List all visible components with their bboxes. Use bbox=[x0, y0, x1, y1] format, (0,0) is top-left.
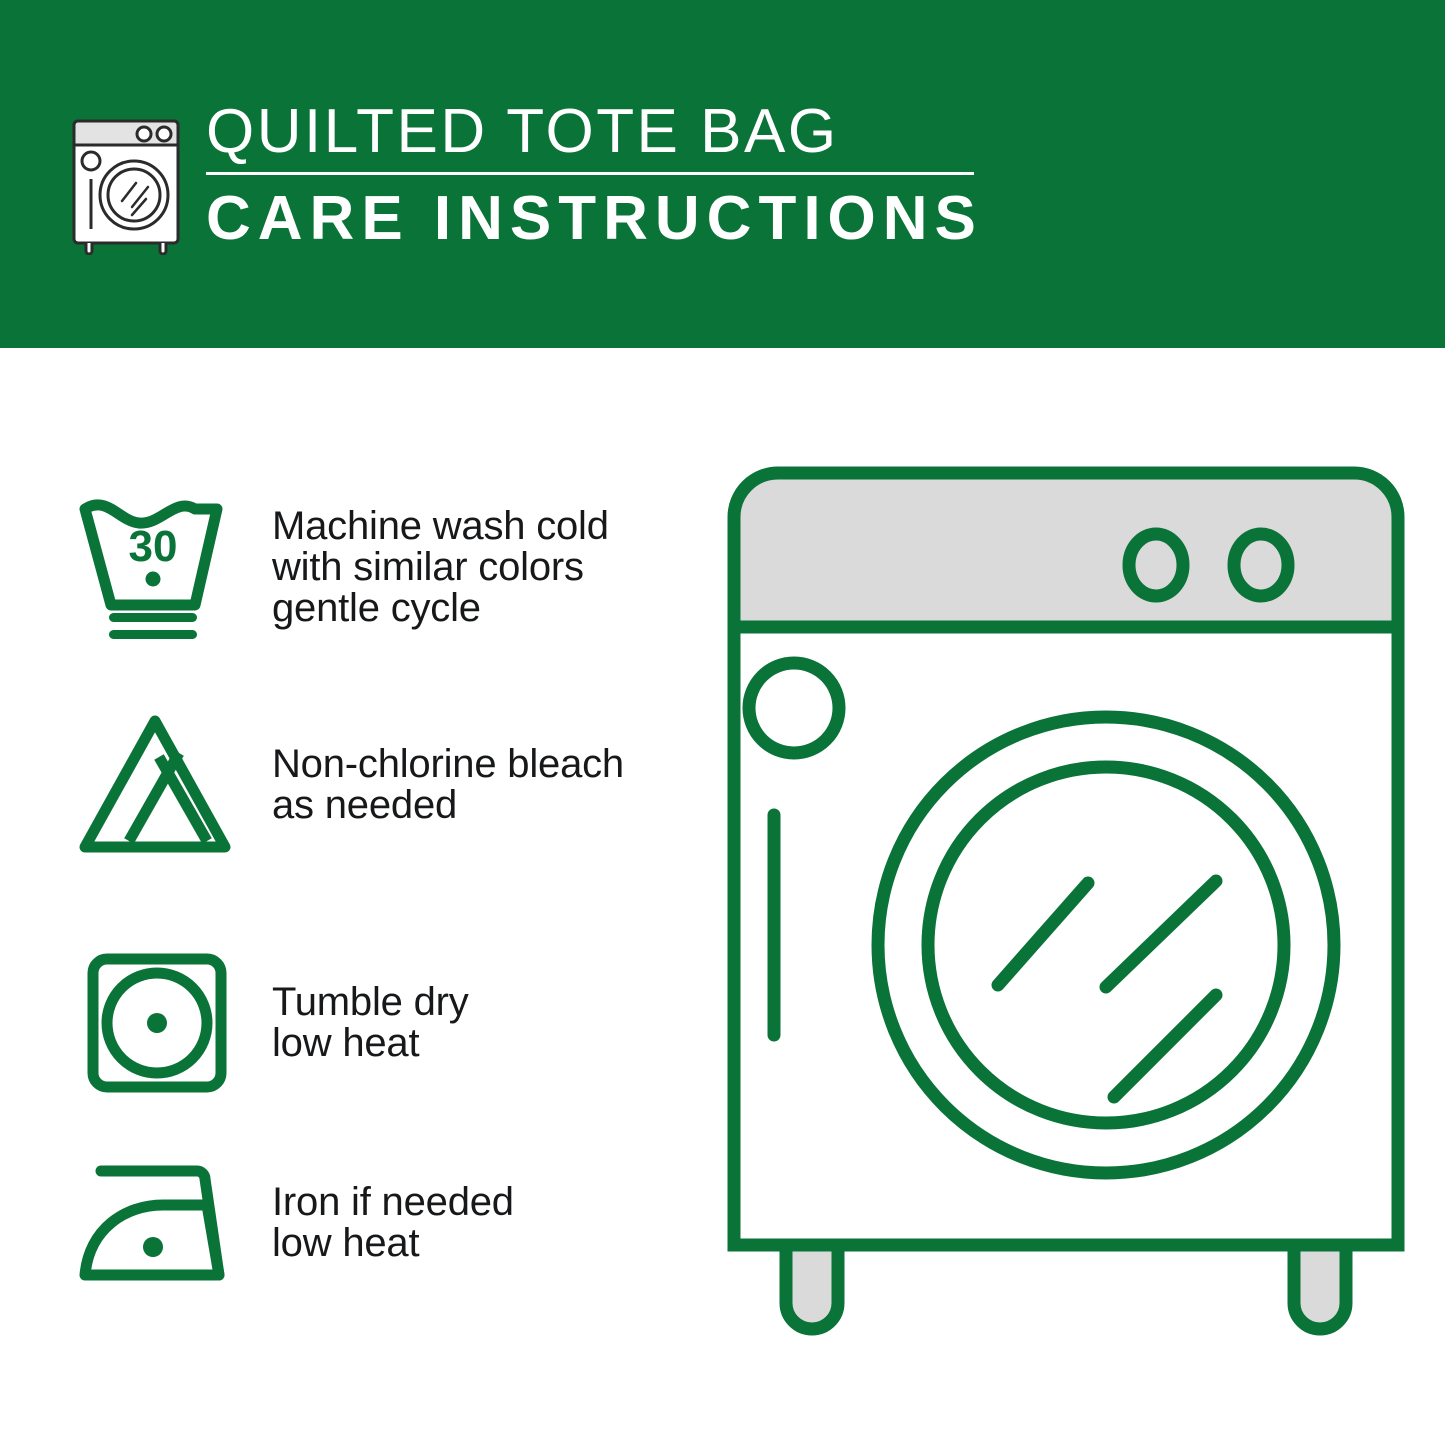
machine-leg-left bbox=[786, 1245, 838, 1329]
iron-low-heat-icon bbox=[62, 1138, 252, 1308]
instruction-text-bleach: Non-chlorine bleach as needed bbox=[272, 744, 624, 826]
instruction-text-tumble-dry: Tumble dry low heat bbox=[272, 982, 469, 1064]
machine-leg-right bbox=[1294, 1245, 1346, 1329]
washing-machine-illustration bbox=[716, 455, 1416, 1385]
header-titles: QUILTED TOTE BAG CARE INSTRUCTIONS bbox=[206, 95, 1066, 255]
instruction-row-iron: Iron if needed low heat bbox=[0, 1138, 700, 1308]
instruction-line: with similar colors bbox=[272, 547, 609, 588]
instruction-line: low heat bbox=[272, 1023, 469, 1064]
instruction-line: Machine wash cold bbox=[272, 506, 609, 547]
instruction-line: Tumble dry bbox=[272, 982, 469, 1023]
care-instructions-page: QUILTED TOTE BAG CARE INSTRUCTIONS 30 bbox=[0, 0, 1445, 1445]
wash-temperature-value: 30 bbox=[129, 522, 178, 571]
tumble-dry-low-heat-icon bbox=[62, 938, 252, 1108]
control-knob-right bbox=[1234, 534, 1288, 596]
instruction-row-bleach: Non-chlorine bleach as needed bbox=[0, 700, 700, 870]
wash-tub-30-gentle-icon: 30 bbox=[62, 482, 252, 652]
washing-machine-icon bbox=[66, 103, 186, 255]
instruction-row-wash: 30 Machine wash cold with similar colors… bbox=[0, 482, 700, 652]
header-content: QUILTED TOTE BAG CARE INSTRUCTIONS bbox=[66, 95, 1386, 275]
instruction-line: as needed bbox=[272, 785, 624, 826]
non-chlorine-bleach-triangle-icon bbox=[62, 700, 252, 870]
instruction-line: gentle cycle bbox=[272, 588, 609, 629]
instruction-line: low heat bbox=[272, 1223, 514, 1264]
instruction-row-tumble-dry: Tumble dry low heat bbox=[0, 938, 700, 1108]
instruction-line: Iron if needed bbox=[272, 1182, 514, 1223]
instruction-line: Non-chlorine bleach bbox=[272, 744, 624, 785]
control-knob-left bbox=[1129, 534, 1183, 596]
page-subtitle: CARE INSTRUCTIONS bbox=[206, 183, 1066, 255]
title-divider bbox=[206, 172, 974, 175]
instruction-list: 30 Machine wash cold with similar colors… bbox=[0, 348, 700, 1445]
control-panel bbox=[734, 473, 1398, 627]
header-band: QUILTED TOTE BAG CARE INSTRUCTIONS bbox=[0, 0, 1445, 348]
instruction-text-wash: Machine wash cold with similar colors ge… bbox=[272, 506, 609, 629]
instruction-text-iron: Iron if needed low heat bbox=[272, 1182, 514, 1264]
page-title: QUILTED TOTE BAG bbox=[206, 95, 1066, 169]
